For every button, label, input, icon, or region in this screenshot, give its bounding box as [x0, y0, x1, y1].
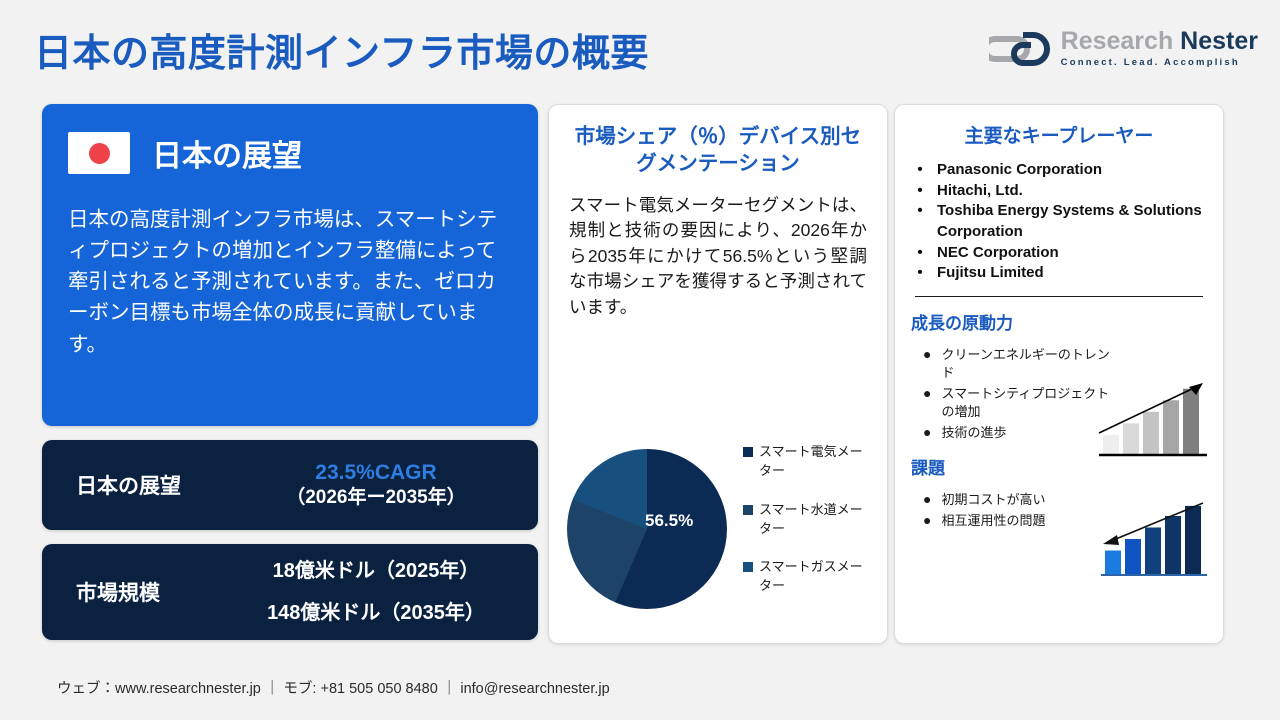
list-item: ● クリーンエネルギーのトレンド [923, 346, 1111, 382]
growth-drivers-list: ● クリーンエネルギーのトレンド ● スマートシティプロジェクトの増加 ● 技術… [911, 346, 1111, 442]
key-players-title: 主要なキープレーヤー [911, 121, 1207, 148]
bullet-icon: • [917, 263, 923, 284]
pie-slice-label: 56.5% [645, 511, 693, 531]
logo-text: Research Nester Connect. Lead. Accomplis… [1061, 28, 1258, 67]
logo-word-nester: Nester [1180, 27, 1258, 55]
outlook-title: 日本の展望 [152, 131, 302, 175]
pie-chart-legend: スマート電気メーター スマート水道メーター スマートガスメーター [743, 443, 875, 616]
legend-label: スマート水道メーター [759, 501, 875, 539]
bullet-icon: • [917, 243, 923, 264]
player-name: NEC Corporation [937, 243, 1059, 264]
legend-item: スマート水道メーター [743, 501, 875, 539]
page-title: 日本の高度計測インフラ市場の概要 [34, 22, 649, 77]
player-name: Fujitsu Limited [937, 263, 1044, 284]
legend-swatch-icon [743, 505, 753, 515]
cagr-label: 日本の展望 [42, 470, 232, 500]
list-item: ● 技術の進歩 [923, 424, 1111, 442]
legend-label: スマートガスメーター [759, 558, 875, 596]
list-item: • Panasonic Corporation [917, 160, 1207, 181]
research-nester-logo: Research Nester Connect. Lead. Accomplis… [989, 24, 1258, 72]
player-name: Toshiba Energy Systems & Solutions Corpo… [937, 201, 1207, 242]
legend-item: スマート電気メーター [743, 443, 875, 481]
cagr-values: 23.5%CAGR （2026年ー2035年） [232, 461, 538, 510]
challenges-list: ● 初期コストが高い ● 相互運用性の問題 [911, 491, 1111, 530]
outlook-body-text: 日本の高度計測インフラ市場は、スマートシティプロジェクトの増加とインフラ整備によ… [68, 204, 512, 360]
bar [1125, 539, 1141, 575]
market-size-label: 市場規模 [42, 577, 232, 607]
bar [1143, 412, 1159, 455]
bullet-icon: • [917, 201, 923, 222]
legend-item: スマートガスメーター [743, 558, 875, 596]
bullet-icon: ● [923, 512, 931, 530]
bar [1145, 527, 1161, 575]
market-share-body-text: スマート電気メーターセグメントは、規制と技術の要因により、2026年から2035… [565, 193, 871, 320]
bar [1103, 435, 1119, 455]
legend-swatch-icon [743, 562, 753, 572]
market-share-card: 市場シェア（％）デバイス別セグメンテーション スマート電気メーターセグメントは、… [548, 104, 888, 644]
bullet-icon: ● [923, 491, 931, 509]
bar [1163, 400, 1179, 455]
pie-chart-area: 56.5% スマート電気メーター スマート水道メーター スマートガスメーター [563, 435, 875, 631]
logo-word-research: Research [1061, 27, 1174, 55]
market-share-title: 市場シェア（％）デバイス別セグメンテーション [565, 123, 871, 177]
list-item: ● 初期コストが高い [923, 491, 1111, 509]
bar [1165, 516, 1181, 575]
legend-swatch-icon [743, 447, 753, 457]
cagr-period: （2026年ー2035年） [232, 486, 520, 510]
bullet-icon: ● [923, 346, 931, 364]
list-item: • NEC Corporation [917, 243, 1207, 264]
down-left-arrow-icon [1103, 535, 1119, 545]
market-size-stat-box: 市場規模 18億米ドル（2025年） 148億米ドル（2035年） [42, 544, 538, 640]
growth-driver-text: スマートシティプロジェクトの増加 [941, 385, 1111, 421]
market-size-values: 18億米ドル（2025年） 148億米ドル（2035年） [232, 561, 538, 623]
player-name: Hitachi, Ltd. [937, 181, 1023, 202]
list-item: • Hitachi, Ltd. [917, 181, 1207, 202]
legend-label: スマート電気メーター [759, 443, 875, 481]
challenges-bar-chart [1097, 497, 1209, 583]
growth-driver-text: クリーンエネルギーのトレンド [941, 346, 1111, 382]
flag-red-disc [89, 143, 110, 164]
key-players-card: 主要なキープレーヤー • Panasonic Corporation • Hit… [894, 104, 1224, 644]
player-name: Panasonic Corporation [937, 160, 1102, 181]
logo-wordmark: Research Nester [1061, 28, 1258, 54]
bar [1123, 423, 1139, 455]
cagr-stat-box: 日本の展望 23.5%CAGR （2026年ー2035年） [42, 440, 538, 530]
cagr-value: 23.5%CAGR [232, 461, 520, 486]
outlook-header: 日本の展望 [68, 128, 512, 178]
japan-flag-icon [68, 132, 130, 174]
bullet-icon: • [917, 160, 923, 181]
bar [1105, 551, 1121, 575]
key-players-list: • Panasonic Corporation • Hitachi, Ltd. … [911, 160, 1207, 284]
footer-contact: ウェブ：www.researchnester.jp ｜ モブ: +81 505 … [57, 677, 610, 698]
list-item: ● スマートシティプロジェクトの増加 [923, 385, 1111, 421]
challenge-text: 初期コストが高い [941, 491, 1045, 509]
bullet-icon: ● [923, 385, 931, 403]
japan-outlook-panel: 日本の展望 日本の高度計測インフラ市場は、スマートシティプロジェクトの増加とイン… [42, 104, 538, 426]
market-size-line: 148億米ドル（2035年） [232, 603, 520, 623]
growth-driver-text: 技術の進歩 [941, 424, 1006, 442]
growth-trend-bar-chart [1097, 377, 1209, 463]
bar [1183, 389, 1199, 455]
logo-mark-icon [989, 29, 1051, 67]
market-size-line: 18億米ドル（2025年） [232, 561, 520, 581]
list-item: • Fujitsu Limited [917, 263, 1207, 284]
bar [1185, 506, 1201, 575]
section-divider [915, 296, 1203, 297]
challenge-text: 相互運用性の問題 [941, 512, 1045, 530]
page-header: 日本の高度計測インフラ市場の概要 Research Nester Connect… [0, 0, 1280, 96]
growth-drivers-title: 成長の原動力 [911, 309, 1207, 334]
logo-tagline: Connect. Lead. Accomplish [1061, 57, 1258, 68]
bullet-icon: ● [923, 424, 931, 442]
bullet-icon: • [917, 181, 923, 202]
list-item: ● 相互運用性の問題 [923, 512, 1111, 530]
list-item: • Toshiba Energy Systems & Solutions Cor… [917, 201, 1207, 242]
